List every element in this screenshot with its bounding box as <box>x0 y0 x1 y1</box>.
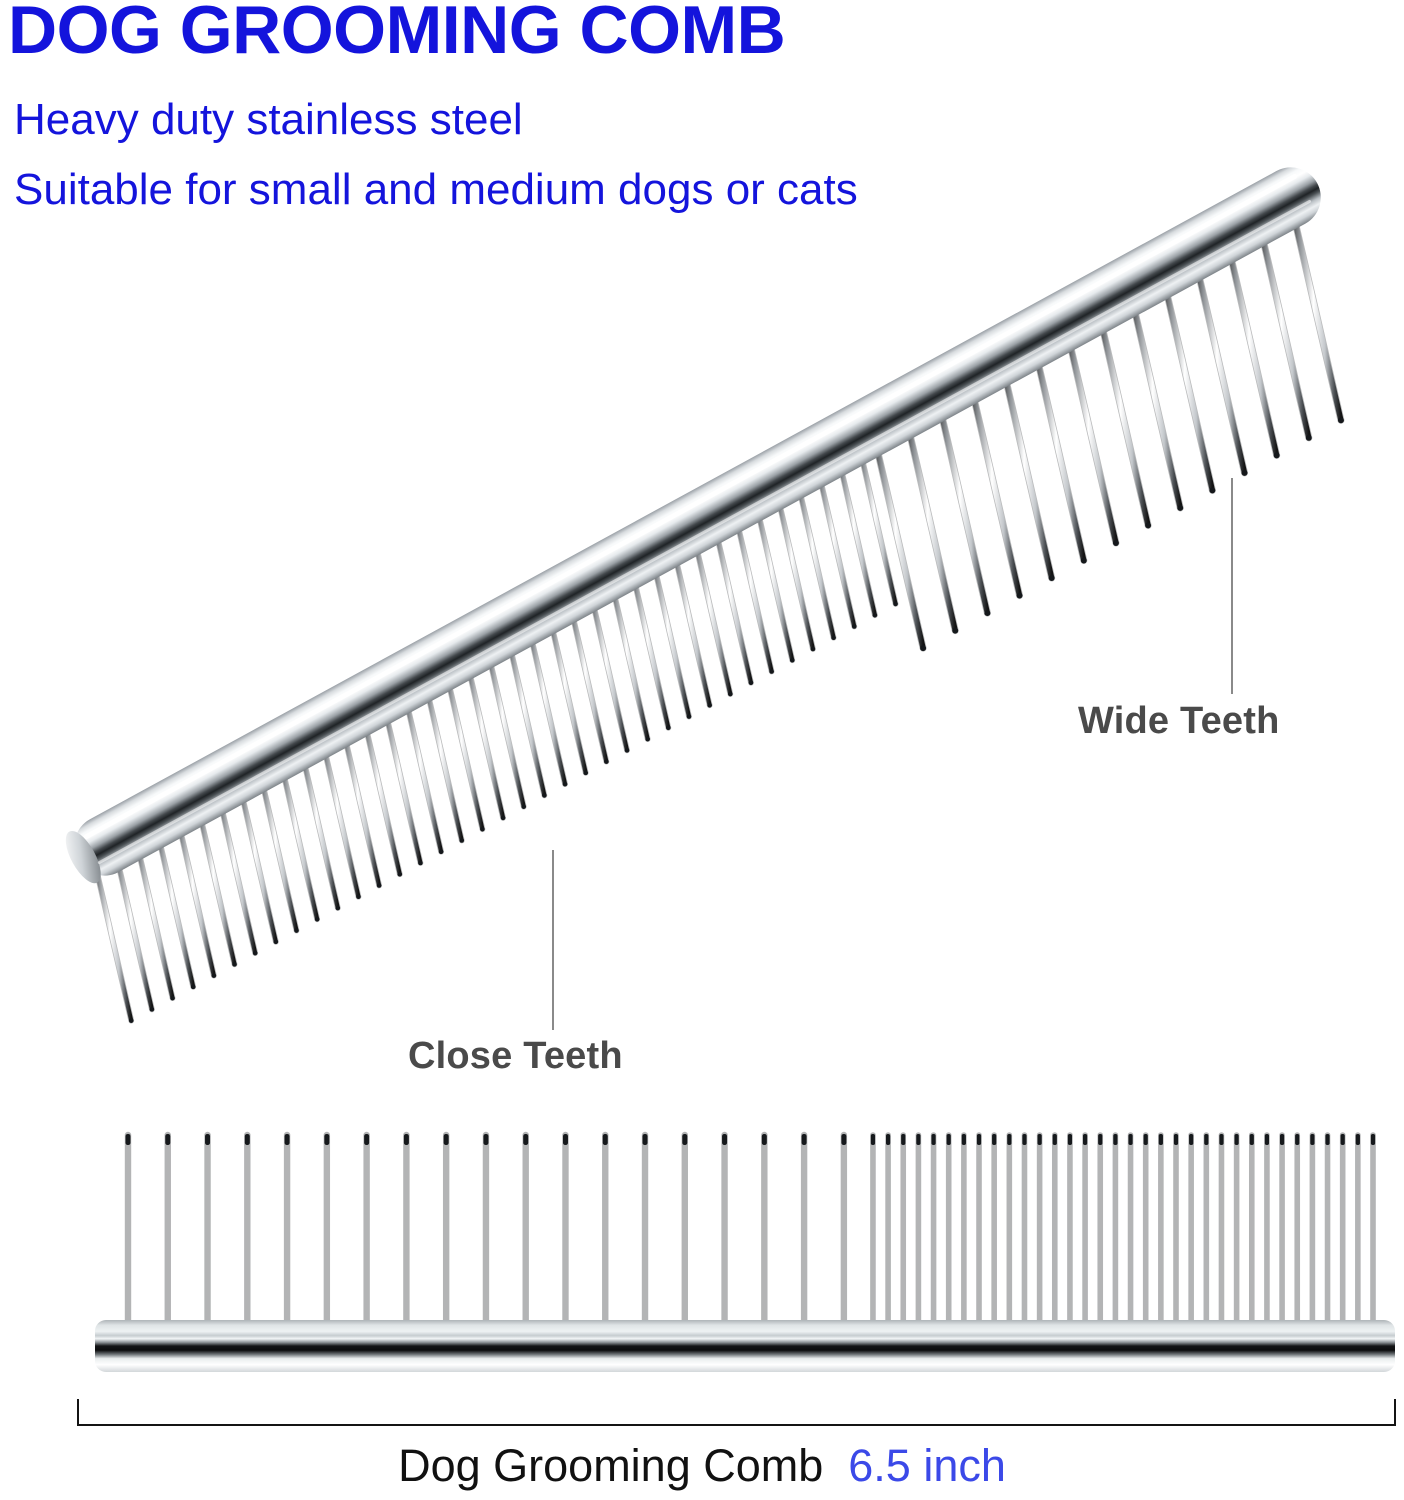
wide-teeth-leader-line <box>1231 478 1233 694</box>
comb-handle <box>58 157 1331 890</box>
side-comb-teeth <box>126 1134 1376 1333</box>
close-teeth-leader-line <box>552 850 554 1030</box>
side-comb-bar <box>95 1320 1395 1372</box>
infographic-canvas: DOG GROOMING COMB Heavy duty stainless s… <box>0 0 1404 1500</box>
angled-comb-svg <box>0 0 1404 1110</box>
dimension-bracket <box>78 1399 1395 1426</box>
angled-comb-figure <box>0 0 1404 1110</box>
angled-comb-teeth <box>90 190 1344 1023</box>
product-size: 6.5 inch <box>848 1440 1006 1491</box>
product-caption: Dog Grooming Comb 6.5 inch <box>0 1443 1404 1488</box>
close-teeth-label: Close Teeth <box>408 1035 623 1078</box>
product-name: Dog Grooming Comb <box>398 1440 823 1491</box>
wide-teeth-label: Wide Teeth <box>1078 700 1280 743</box>
